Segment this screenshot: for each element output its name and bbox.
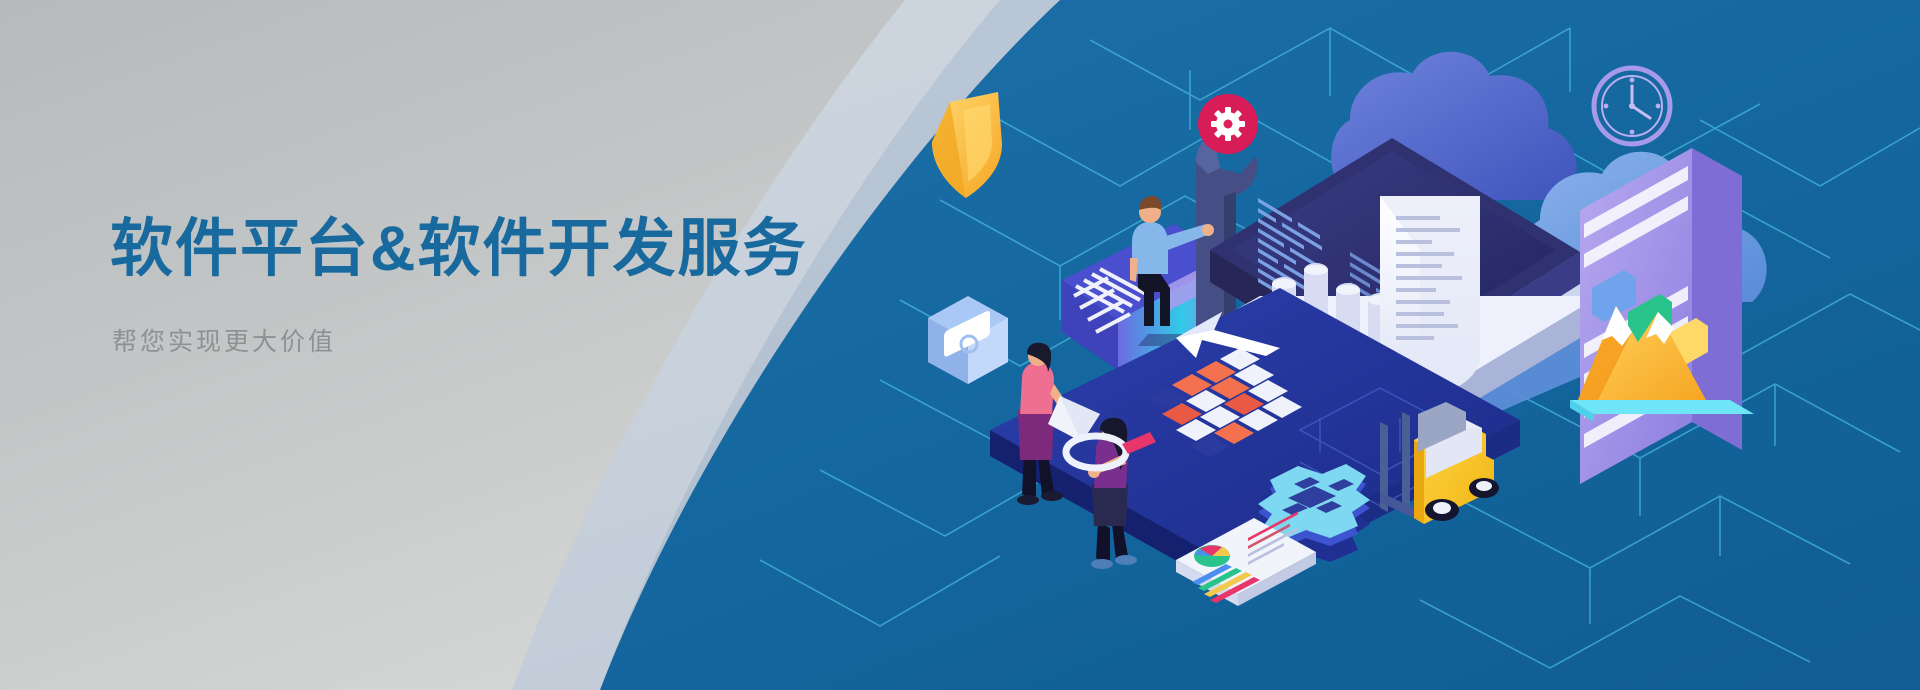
pie-chart-icon (1194, 545, 1230, 567)
page-title: 软件平台&软件开发服务 (110, 212, 870, 286)
clock-icon (1594, 68, 1670, 144)
isometric-scene (880, 0, 1920, 690)
shield-icon (932, 92, 1002, 198)
camera-icon (928, 296, 1008, 384)
page-subtitle: 帮您实现更大价值 (112, 322, 870, 358)
banner-copy: 软件平台&软件开发服务 帮您实现更大价值 (110, 212, 870, 358)
gear-badge-icon (1198, 94, 1258, 154)
illustration (880, 0, 1920, 690)
hero-banner: 软件平台&软件开发服务 帮您实现更大价值 (0, 0, 1920, 690)
